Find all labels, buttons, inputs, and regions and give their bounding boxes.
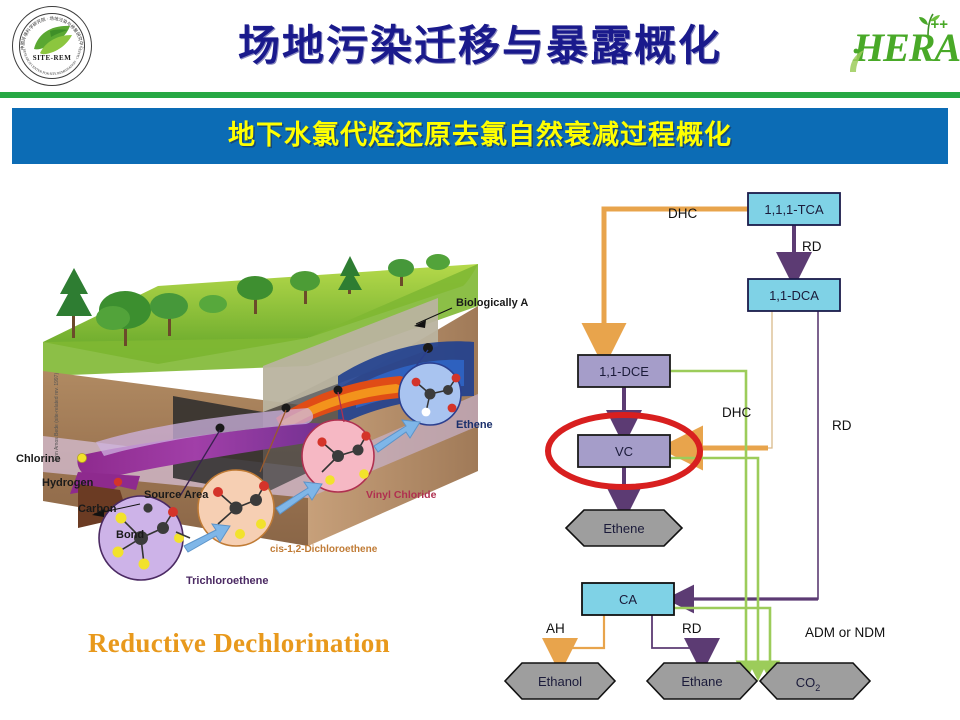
node-co2[interactable]: CO2 bbox=[760, 663, 870, 699]
node-dca[interactable]: 1,1-DCA bbox=[748, 279, 840, 311]
node-tca-label: 1,1,1-TCA bbox=[764, 202, 824, 217]
edge-label-adm-ndm: ADM or NDM bbox=[805, 625, 885, 640]
edge-label-ah: AH bbox=[546, 621, 565, 636]
edge-label-rd-ca: RD bbox=[682, 621, 702, 636]
legend-swatch-hydrogen bbox=[114, 478, 122, 486]
edge-dca-dhc-guide bbox=[676, 311, 772, 448]
site-rem-seal: 中国环境科学研究院 · 场地污染与修复研究中心 RESEARCH CENTER … bbox=[12, 6, 92, 86]
node-dce[interactable]: 1,1-DCE bbox=[578, 355, 670, 387]
page-title: 场地污染迁移与暴露概化 bbox=[180, 14, 780, 78]
section-banner-text: 地下水氯代烃还原去氯自然衰减过程概化 bbox=[12, 108, 948, 164]
illustration-caption: Reductive Dechlorination bbox=[88, 628, 488, 668]
edge-label-dhc-mid: DHC bbox=[722, 405, 751, 420]
node-ca-label: CA bbox=[619, 592, 637, 607]
node-vc-label: VC bbox=[615, 444, 633, 459]
edge-label-rd-tca: RD bbox=[802, 239, 822, 254]
node-tca[interactable]: 1,1,1-TCA bbox=[748, 193, 840, 225]
legend-label-hydrogen: Hydrogen bbox=[42, 477, 94, 489]
illustration-credit: John Amos Bede (site-related rev. 1997) bbox=[54, 373, 60, 462]
node-dca-label: 1,1-DCA bbox=[769, 288, 819, 303]
node-ethanol[interactable]: Ethanol bbox=[505, 663, 615, 699]
label-vinyl-chloride: Vinyl Chloride bbox=[366, 489, 437, 501]
legend-swatch-chlorine bbox=[78, 454, 87, 463]
node-co2-label-sub: 2 bbox=[815, 683, 820, 693]
seal-leaf-icon bbox=[30, 23, 74, 57]
label-trichloroethene: Trichloroethene bbox=[186, 575, 269, 587]
node-ca[interactable]: CA bbox=[582, 583, 674, 615]
legend-label-carbon: Carbon bbox=[78, 503, 117, 515]
label-source-area-text: Source Area bbox=[144, 489, 209, 501]
node-ethene[interactable]: Ethene bbox=[566, 510, 682, 546]
edge-label-dhc-top: DHC bbox=[668, 206, 697, 221]
edge-tca-to-dce-dhc bbox=[604, 209, 748, 348]
slide-root: 中国环境科学研究院 · 场地污染与修复研究中心 RESEARCH CENTER … bbox=[0, 0, 960, 720]
node-ethene-label: Ethene bbox=[603, 521, 644, 536]
node-co2-label-main: CO bbox=[796, 675, 816, 690]
header-divider bbox=[0, 92, 960, 98]
node-ethane[interactable]: Ethane bbox=[647, 663, 757, 699]
legend-label-bond: Bond bbox=[116, 529, 144, 541]
conceptual-block-illustration: Biologically Active Zone Source Area Tri… bbox=[8, 246, 528, 596]
node-ethane-label: Ethane bbox=[681, 674, 722, 689]
edge-ca-to-ethanol-guide bbox=[560, 615, 604, 658]
node-vc[interactable]: VC bbox=[578, 435, 670, 467]
node-ethanol-label: Ethanol bbox=[538, 674, 582, 689]
section-banner: 地下水氯代烃还原去氯自然衰减过程概化 bbox=[12, 108, 948, 164]
molecule-vinyl-chloride bbox=[302, 420, 374, 492]
degradation-pathway-flowchart: 1,1,1-TCA 1,1-DCA 1,1-DCE VC Ethen bbox=[500, 180, 960, 720]
node-dce-label: 1,1-DCE bbox=[599, 364, 649, 379]
molecule-ethene bbox=[399, 363, 461, 425]
hera-superscript: ++ bbox=[930, 16, 948, 33]
slide-header: 中国环境科学研究院 · 场地污染与修复研究中心 RESEARCH CENTER … bbox=[0, 0, 960, 92]
edge-label-rd-right: RD bbox=[832, 418, 852, 433]
hera-swoosh-icon bbox=[847, 48, 867, 74]
label-ethene: Ethene bbox=[456, 419, 493, 431]
label-cis-dce: cis-1,2-Dichloroethene bbox=[270, 544, 378, 555]
legend-swatch-carbon bbox=[143, 503, 152, 512]
seal-text: SITE-REM bbox=[12, 54, 92, 62]
hera-logo: HERA ++ bbox=[845, 14, 950, 76]
